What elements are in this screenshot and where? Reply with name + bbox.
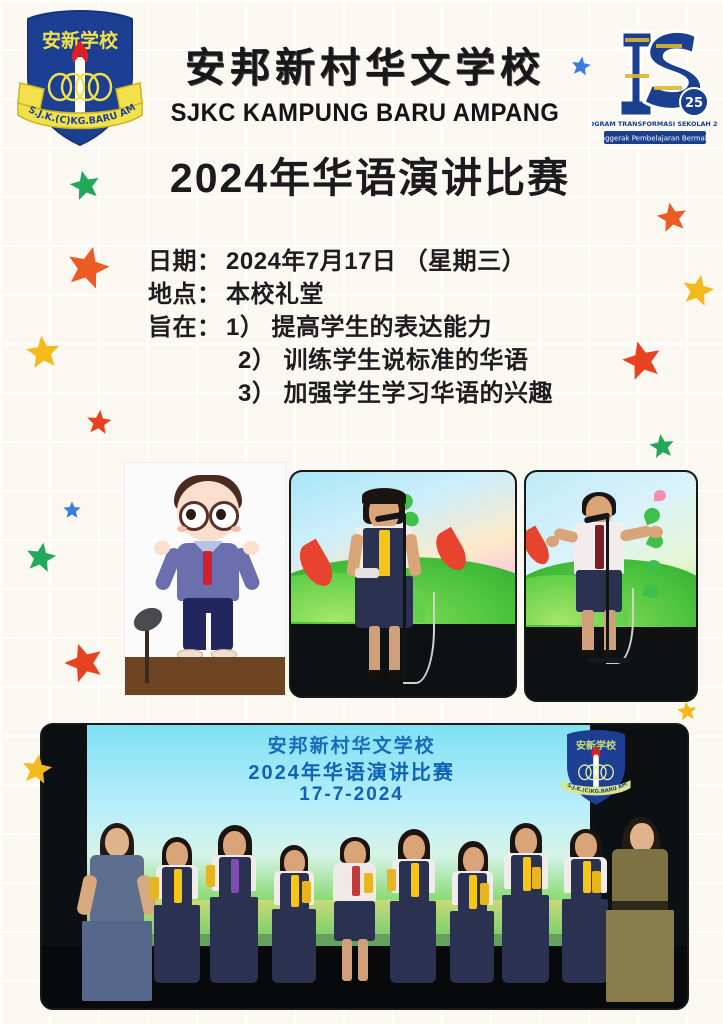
star-icon: [68, 168, 102, 207]
ts25-logo-icon: 25 PROGRAM TRANSFORMASI SEKOLAH 2025 Pen…: [592, 14, 718, 146]
cartoon-eye: [186, 509, 196, 520]
venue-label: 地点：: [148, 278, 226, 311]
ts25-line1: PROGRAM TRANSFORMASI SEKOLAH 2025: [592, 120, 718, 128]
cartoon-cheek: [177, 526, 187, 532]
aim-item: 2） 训练学生说标准的华语: [148, 344, 618, 377]
school-crest-icon: 安新学校 S.J.K.(C)KG.BARU AMPANG: [10, 5, 150, 150]
star-icon: [62, 640, 106, 689]
aim-item: 1） 提高学生的表达能力: [226, 314, 492, 341]
star-icon: [85, 408, 113, 441]
school-name-cn: 安邦新村华文学校: [150, 42, 580, 94]
backdrop-line2: 2024年华语演讲比赛: [184, 756, 519, 785]
star-icon: [64, 243, 112, 296]
ts25-badge-number: 25: [685, 96, 703, 111]
cartoon-hand: [243, 541, 259, 555]
cartoon-leg-gap: [206, 613, 211, 650]
star-icon: [620, 338, 664, 387]
backdrop-flower: [654, 490, 666, 501]
star-icon: [648, 432, 676, 465]
cartoon-cheek: [231, 526, 241, 532]
cartoon-mic-stand: [145, 623, 149, 683]
detail-aim: 旨在：1） 提高学生的表达能力: [148, 311, 618, 344]
mic-tripod-base: [588, 658, 630, 663]
star-icon: [62, 500, 82, 525]
group-award-photo: 安邦新村华文学校 2024年华语演讲比赛 17-7-2024 安新学校 S.J.…: [40, 723, 689, 1010]
boy-hand: [546, 536, 559, 547]
backdrop-line1: 安邦新村华文学校: [184, 731, 519, 758]
boy-hand: [648, 526, 663, 538]
ts25-line2: Penggerak Pembelajaran Bermakna: [592, 135, 717, 143]
teacher-belt: [612, 901, 668, 910]
school-crest-icon: 安新学校 S.J.K.(C)KG.BARU AMPANG: [557, 725, 635, 809]
detail-venue: 地点：本校礼堂: [148, 278, 618, 311]
star-icon: [24, 333, 62, 376]
poster-canvas: 安新学校 S.J.K.(C)KG.BARU AMPANG: [0, 0, 723, 1024]
backdrop-line3: 17-7-2024: [210, 784, 494, 806]
venue-value: 本校礼堂: [226, 281, 324, 308]
star-icon: [20, 752, 54, 791]
girl-speaking-photo: [289, 470, 517, 698]
event-title: 2024年华语演讲比赛: [140, 152, 600, 204]
detail-date: 日期：2024年7月17日 （星期三）: [148, 245, 618, 278]
school-name-en: SJKC KAMPUNG BARU AMPANG: [161, 98, 570, 128]
star-icon: [680, 272, 716, 313]
cartoon-podium: [125, 657, 285, 696]
star-icon: [655, 200, 689, 239]
aim-item: 3） 加强学生学习华语的兴趣: [148, 377, 618, 410]
event-details: 日期：2024年7月17日 （星期三） 地点：本校礼堂 旨在：1） 提高学生的表…: [148, 245, 618, 410]
speech-card: [355, 568, 379, 578]
cartoon-speaker-illustration: [124, 462, 286, 696]
aim-label: 旨在：: [148, 311, 226, 344]
star-icon: [676, 700, 698, 727]
star-icon: [24, 540, 58, 579]
date-value: 2024年7月17日 （星期三）: [226, 248, 526, 275]
date-label: 日期：: [148, 245, 226, 278]
star-icon: [570, 55, 592, 82]
boy-speaking-photo: [524, 470, 698, 702]
cartoon-eye: [216, 509, 226, 520]
cartoon-hand: [154, 541, 170, 555]
cartoon-necktie: [203, 551, 212, 585]
